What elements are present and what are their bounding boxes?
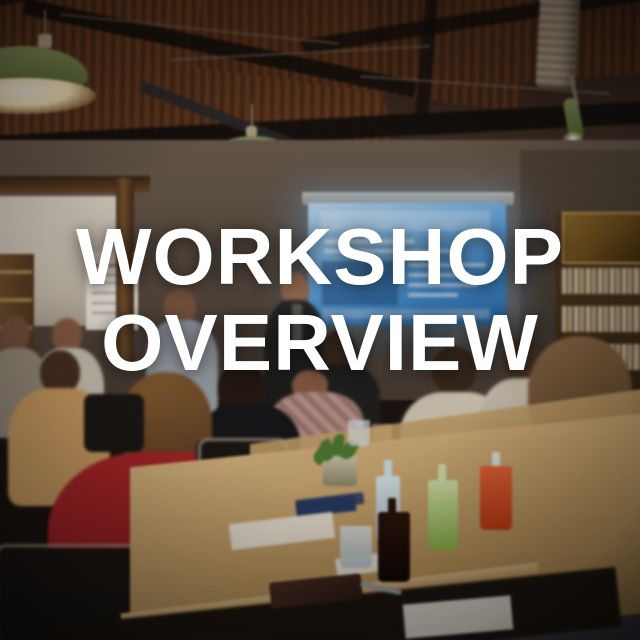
workshop-overview-image: WORKSHOP OVERVIEW (0, 0, 640, 640)
vignette (0, 0, 640, 640)
